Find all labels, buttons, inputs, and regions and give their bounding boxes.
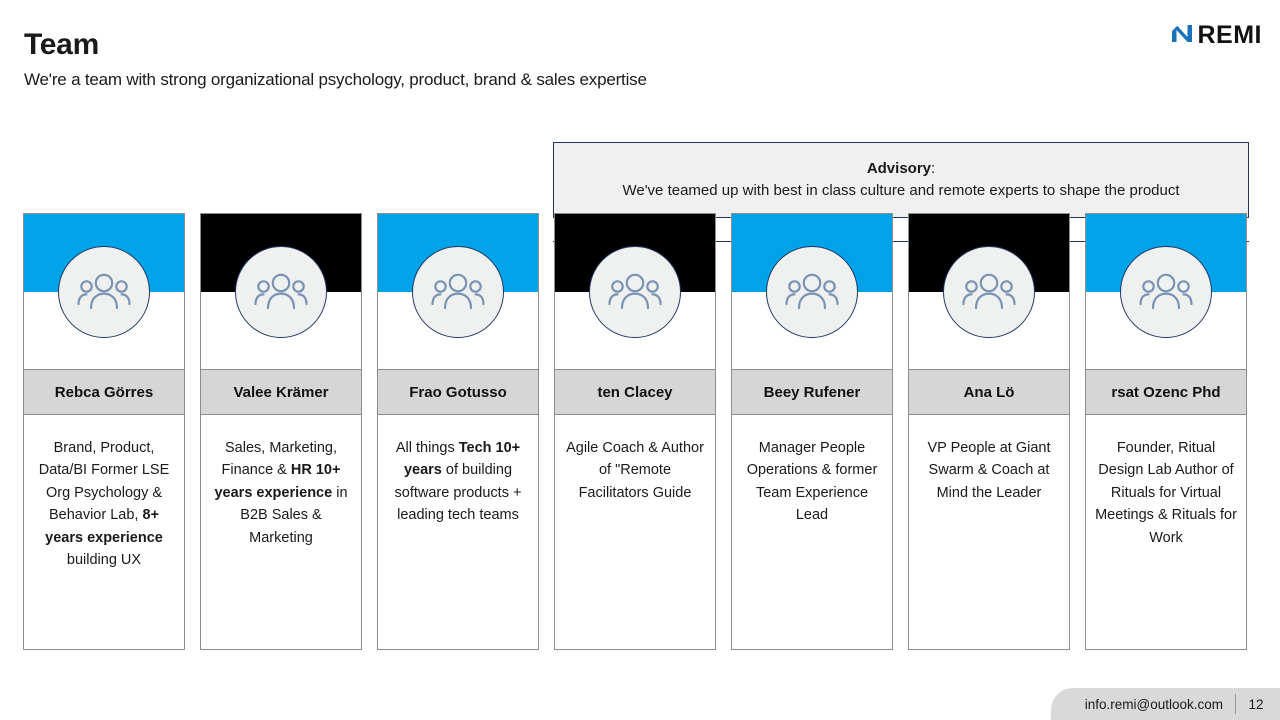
slide-team: Team We're a team with strong organizati… [0, 0, 1280, 720]
card-photo-area [555, 292, 715, 369]
people-group-icon [607, 270, 663, 315]
card-member-name: Beey Rufener [732, 369, 892, 415]
card-photo-area [732, 292, 892, 369]
people-group-icon [961, 270, 1017, 315]
remi-logo-mark-icon [1169, 20, 1195, 51]
card-photo-area [201, 292, 361, 369]
avatar [1120, 246, 1212, 338]
team-card: rsat Ozenc PhdFounder, Ritual Design Lab… [1085, 213, 1247, 650]
card-member-bio: Brand, Product, Data/BI Former LSE Org P… [24, 415, 184, 649]
bio-text: All things [396, 440, 459, 456]
team-card: Frao GotussoAll things Tech 10+ years of… [377, 213, 539, 650]
card-member-name: rsat Ozenc Phd [1086, 369, 1246, 415]
people-group-icon [1138, 270, 1194, 315]
team-card: Rebca GörresBrand, Product, Data/BI Form… [23, 213, 185, 650]
card-member-bio: All things Tech 10+ years of building so… [378, 415, 538, 649]
footer: info.remi@outlook.com 12 [1051, 688, 1280, 720]
avatar [235, 246, 327, 338]
bio-text: VP People at Giant Swarm & Coach at Mind… [927, 440, 1050, 501]
card-photo-area [909, 292, 1069, 369]
advisory-label: Advisory: [867, 158, 935, 180]
card-photo-area [378, 292, 538, 369]
team-card: Valee KrämerSales, Marketing, Finance & … [200, 213, 362, 650]
page-title: Team [24, 28, 99, 62]
footer-email: info.remi@outlook.com [1085, 697, 1223, 712]
bio-text: Manager People Operations & former Team … [747, 440, 878, 523]
people-group-icon [76, 270, 132, 315]
card-member-bio: Agile Coach & Author of "Remote Facilita… [555, 415, 715, 649]
footer-page-number: 12 [1248, 697, 1264, 712]
card-member-bio: Manager People Operations & former Team … [732, 415, 892, 649]
page-subtitle: We're a team with strong organizational … [24, 70, 647, 90]
footer-divider [1235, 694, 1236, 714]
team-card: Ana LöVP People at Giant Swarm & Coach a… [908, 213, 1070, 650]
card-member-bio: VP People at Giant Swarm & Coach at Mind… [909, 415, 1069, 649]
card-photo-area [24, 292, 184, 369]
team-card: ten ClaceyAgile Coach & Author of "Remot… [554, 213, 716, 650]
advisory-description: We've teamed up with best in class cultu… [622, 180, 1179, 202]
advisory-label-text: Advisory [867, 160, 931, 177]
avatar [766, 246, 858, 338]
card-member-bio: Sales, Marketing, Finance & HR 10+ years… [201, 415, 361, 649]
team-card: Beey RufenerManager People Operations & … [731, 213, 893, 650]
people-group-icon [784, 270, 840, 315]
bio-text: Agile Coach & Author of "Remote Facilita… [566, 440, 704, 501]
remi-logo-wordmark: REMI [1198, 23, 1263, 48]
card-member-name: Frao Gotusso [378, 369, 538, 415]
card-member-name: ten Clacey [555, 369, 715, 415]
avatar [943, 246, 1035, 338]
card-member-name: Valee Krämer [201, 369, 361, 415]
bio-text: Founder, Ritual Design Lab Author of Rit… [1095, 440, 1237, 546]
card-member-name: Ana Lö [909, 369, 1069, 415]
avatar [589, 246, 681, 338]
bio-text: building UX [67, 552, 141, 568]
advisory-callout: Advisory: We've teamed up with best in c… [553, 142, 1249, 218]
avatar [58, 246, 150, 338]
advisory-label-suffix: : [931, 160, 935, 177]
people-group-icon [430, 270, 486, 315]
people-group-icon [253, 270, 309, 315]
remi-logo: REMI [1169, 20, 1263, 51]
card-member-bio: Founder, Ritual Design Lab Author of Rit… [1086, 415, 1246, 649]
card-member-name: Rebca Görres [24, 369, 184, 415]
card-photo-area [1086, 292, 1246, 369]
avatar [412, 246, 504, 338]
